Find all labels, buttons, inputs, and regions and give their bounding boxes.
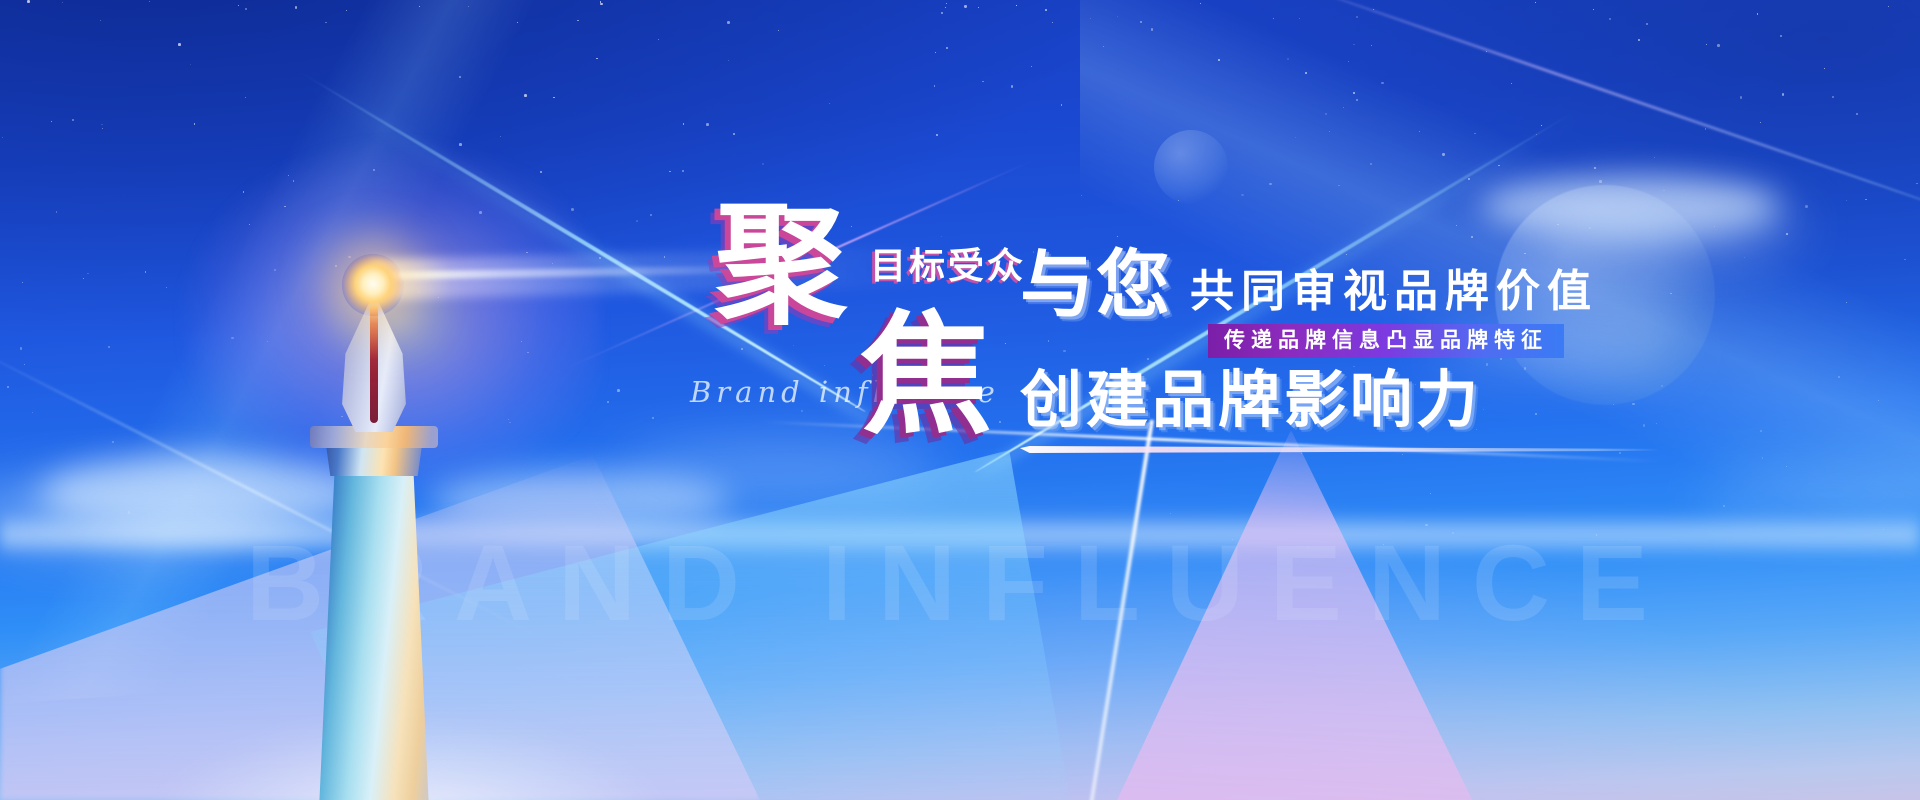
watermark-text: BRAND INFLUENCE [0, 520, 1920, 645]
planet-small [1154, 130, 1228, 204]
headline-line-1: 与您 共同审视品牌价值 [1020, 248, 1598, 322]
promo-banner: BRAND INFLUENCE 聚 目标受众 Brand influence 焦… [0, 0, 1920, 800]
headline-char-jiao: 焦 [860, 310, 992, 442]
beacon-light [342, 254, 404, 316]
headline-line1-lead: 与您 [1020, 248, 1172, 322]
tagline-badge: 传递品牌信息凸显品牌特征 [1208, 324, 1564, 358]
pen-nib-slit [370, 305, 378, 423]
lighthouse-tower [308, 474, 440, 800]
headline-underline-rule [1020, 446, 1660, 453]
headline-line1-rest: 共同审视品牌价值 [1190, 268, 1598, 322]
lighthouse-neck [322, 446, 426, 476]
headline-eyebrow: 目标受众 [870, 248, 1026, 284]
headline-block: 聚 目标受众 Brand influence 焦 与您 共同审视品牌价值 传递品… [700, 200, 1780, 530]
pen-nib-lighthouse [300, 250, 530, 800]
headline-char-ju: 聚 [715, 200, 847, 332]
headline-line-2: 创建品牌影响力 [1020, 370, 1482, 432]
